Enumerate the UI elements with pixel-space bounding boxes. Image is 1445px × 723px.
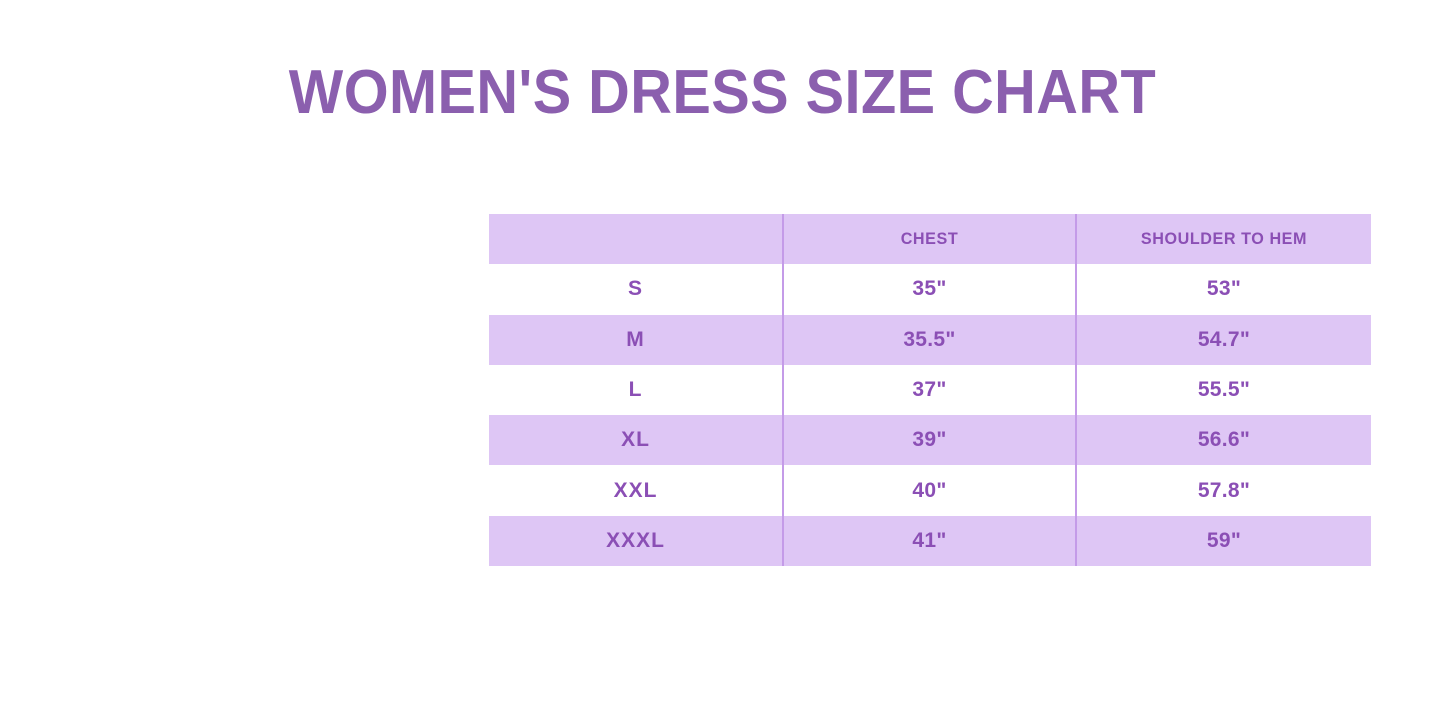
table-header: CHEST SHOULDER TO HEM (489, 214, 1371, 264)
cell-chest: 40" (783, 465, 1076, 515)
cell-shoulder-to-hem: 54.7" (1076, 315, 1371, 365)
cell-size: XXL (489, 465, 783, 515)
table-row: XL 39" 56.6" (489, 415, 1371, 465)
cell-shoulder-to-hem: 57.8" (1076, 465, 1371, 515)
table-body: S 35" 53" M 35.5" 54.7" L 37" 55.5" XL 3… (489, 264, 1371, 566)
table-header-row: CHEST SHOULDER TO HEM (489, 214, 1371, 264)
column-header-shoulder-to-hem: SHOULDER TO HEM (1083, 214, 1363, 264)
cell-chest: 41" (783, 516, 1076, 566)
table-row: XXL 40" 57.8" (489, 465, 1371, 515)
cell-chest: 37" (783, 365, 1076, 415)
table-row: M 35.5" 54.7" (489, 315, 1371, 365)
cell-shoulder-to-hem: 55.5" (1076, 365, 1371, 415)
cell-size: L (489, 365, 783, 415)
cell-chest: 39" (783, 415, 1076, 465)
cell-shoulder-to-hem: 59" (1076, 516, 1371, 566)
table-row: L 37" 55.5" (489, 365, 1371, 415)
cell-size: M (489, 315, 783, 365)
cell-shoulder-to-hem: 53" (1076, 264, 1371, 314)
cell-size: S (489, 264, 783, 314)
table-row: XXXL 41" 59" (489, 516, 1371, 566)
table-row: S 35" 53" (489, 264, 1371, 314)
column-header-chest: CHEST (790, 214, 1068, 264)
page-title: WOMEN'S DRESS SIZE CHART (51, 58, 1395, 128)
cell-chest: 35" (783, 264, 1076, 314)
cell-size: XL (489, 415, 783, 465)
cell-chest: 35.5" (783, 315, 1076, 365)
size-chart-table-container: CHEST SHOULDER TO HEM S 35" 53" M 35.5" … (489, 214, 1371, 566)
size-chart-table: CHEST SHOULDER TO HEM S 35" 53" M 35.5" … (489, 214, 1371, 566)
cell-shoulder-to-hem: 56.6" (1076, 415, 1371, 465)
cell-size: XXXL (489, 516, 783, 566)
column-header-size (496, 214, 775, 264)
